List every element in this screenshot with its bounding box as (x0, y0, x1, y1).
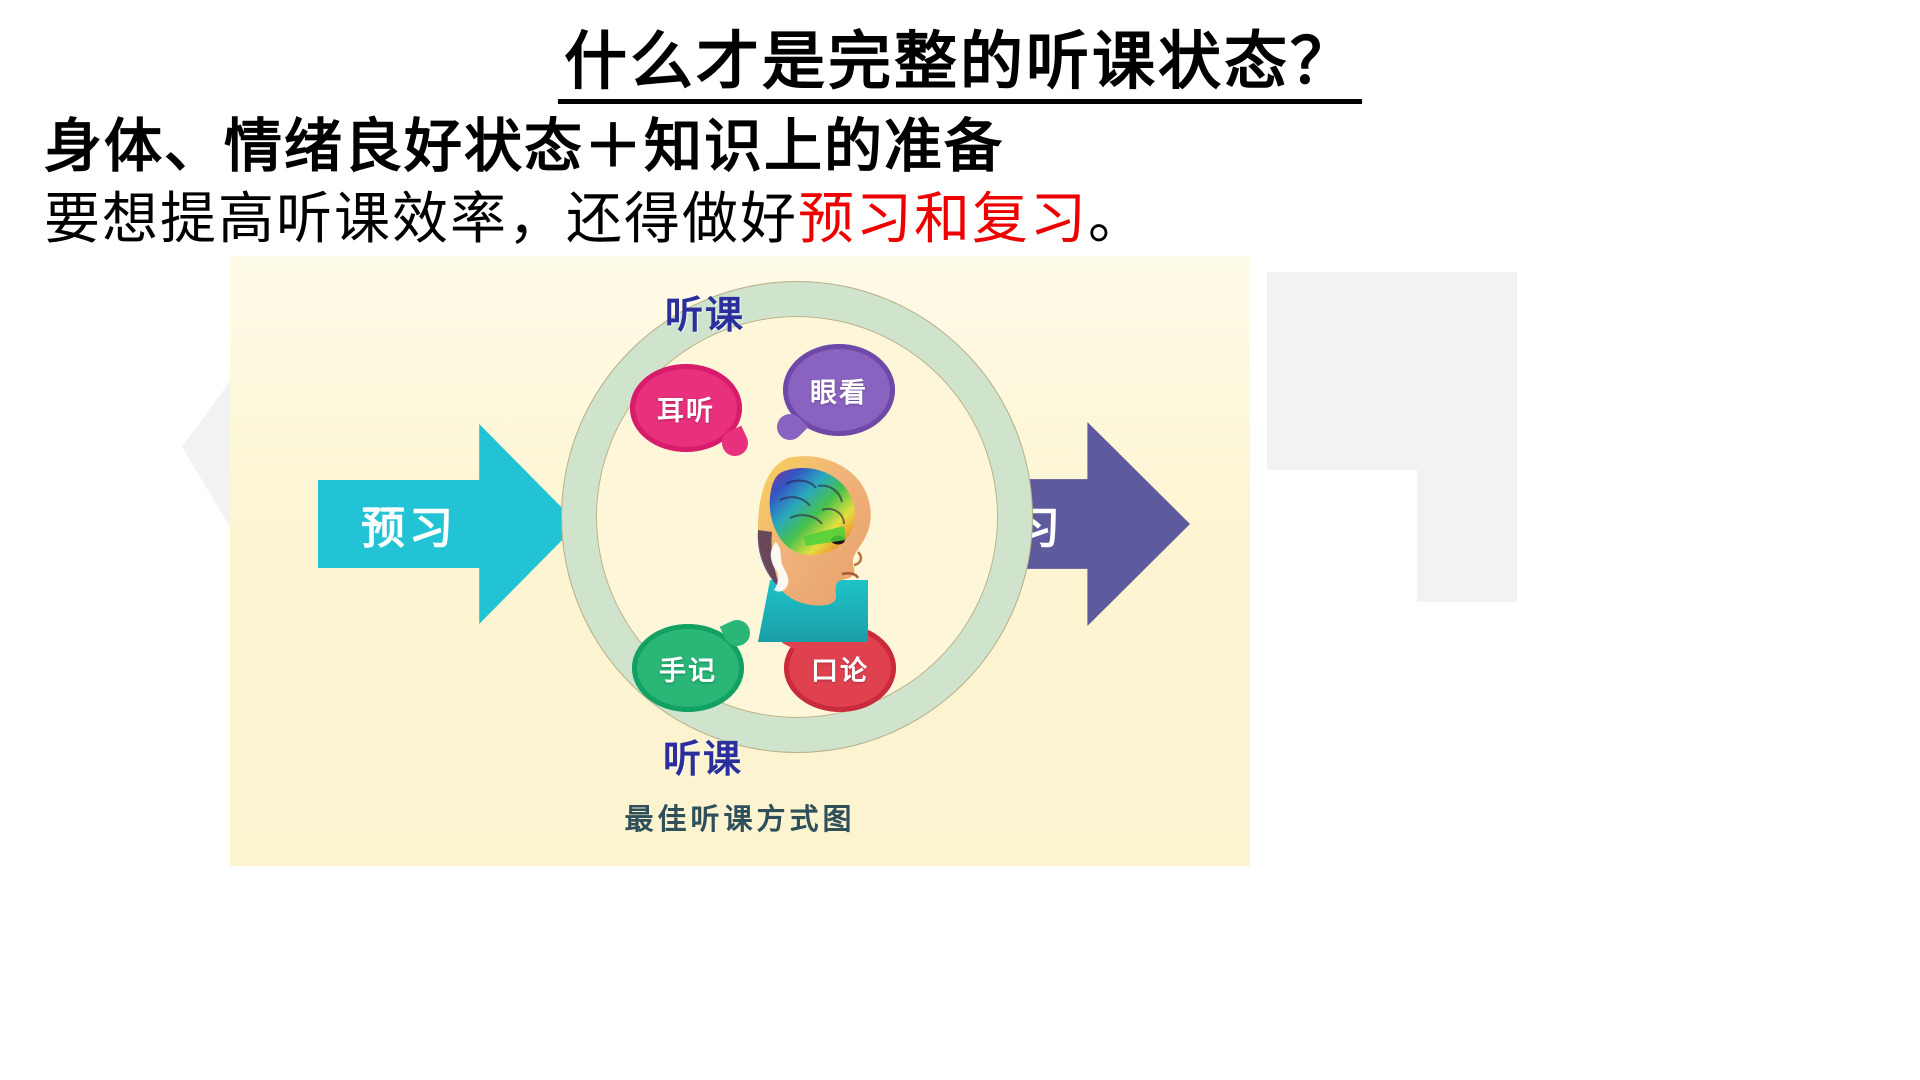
bubble-ear-listen-label: 耳听 (657, 389, 715, 428)
background-chevron-right-icon (1267, 272, 1517, 602)
bubble-mouth-discuss-label: 口论 (811, 649, 869, 688)
subtitle-line: 身体、情绪良好状态＋知识上的准备 (44, 116, 1920, 177)
text-block: 什么才是完整的听课状态？ 身体、情绪良好状态＋知识上的准备 要想提高听课效率，还… (0, 0, 1920, 250)
diagram-image: 预习 复习 听课 听课 耳听 眼看 手记 口论 (222, 252, 1478, 866)
bubble-ear-listen: 耳听 (630, 364, 742, 452)
preview-arrow: 预习 (318, 424, 578, 624)
diagram-caption: 最佳听课方式图 (230, 796, 1250, 838)
ring-label-top: 听课 (665, 284, 745, 339)
brain-head-icon (718, 444, 894, 642)
body-line-prefix: 要想提高听课效率，还得做好 (44, 187, 798, 252)
ring-label-bottom: 听课 (663, 728, 743, 783)
page-title: 什么才是完整的听课状态？ (558, 30, 1362, 104)
bubble-eye-watch-label: 眼看 (810, 371, 868, 410)
bubble-hand-note-label: 手记 (659, 649, 717, 688)
slide-root: 什么才是完整的听课状态？ 身体、情绪良好状态＋知识上的准备 要想提高听课效率，还… (0, 0, 1920, 1080)
body-line: 要想提高听课效率，还得做好预习和复习。 (44, 191, 1920, 250)
diagram-panel: 预习 复习 听课 听课 耳听 眼看 手记 口论 (230, 256, 1250, 866)
bubble-eye-watch: 眼看 (783, 344, 895, 436)
preview-arrow-label: 预习 (361, 492, 457, 556)
title-row: 什么才是完整的听课状态？ (0, 30, 1920, 104)
body-line-suffix: 。 (1088, 187, 1146, 252)
body-line-highlight: 预习和复习 (798, 187, 1088, 252)
